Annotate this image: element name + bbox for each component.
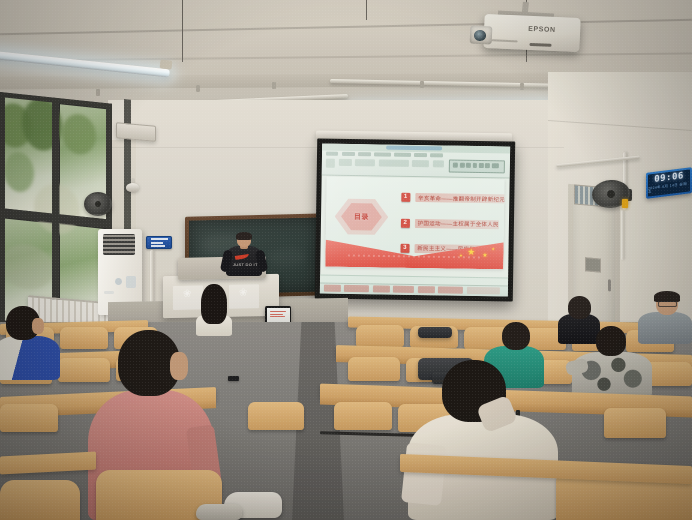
gold-star-icon: ★ [459,254,463,258]
slide-banner: ★ ★ ★ ★ [325,240,504,270]
ribbon-toolbar [324,156,508,175]
seat[interactable] [248,402,304,430]
shoe [196,504,242,520]
seat[interactable] [604,408,666,438]
projector: EPSON [483,14,580,52]
student-blue [0,306,60,380]
light-end-cap [160,59,173,69]
ribbon-tab[interactable] [430,153,443,157]
wall-mounted-fan [84,192,112,216]
projection-screen[interactable]: 目录 1 辛亥革命——推翻帝制开辟新纪元 2 护国运动——主权属于全体人民 3 [320,144,510,297]
student-head [596,326,626,356]
ribbon-tab[interactable] [414,153,427,157]
student-camo [572,326,652,398]
projector-port [529,43,551,47]
wall-speaker [116,122,156,141]
slide-bullet-number: 1 [401,193,410,202]
ribbon-group[interactable] [432,161,443,167]
slide-bullet: 1 辛亥革命——推翻帝制开辟新纪元 [401,192,494,204]
door-vision-panel [585,257,601,272]
conduit-clip [96,89,100,96]
slide-bullet-text: 护国运动——主权属于全体人民 [418,219,499,228]
ribbon-group[interactable] [379,160,409,167]
surveillance-camera [126,183,139,192]
projection-screen-frame: 目录 1 辛亥革命——推翻帝制开辟新纪元 2 护国运动——主权属于全体人民 3 [315,138,515,301]
seat[interactable] [0,480,80,520]
fan-indicator-light [622,199,628,208]
ac-control-panel [126,276,136,288]
gold-star-icon: ★ [491,247,495,251]
seat[interactable] [334,402,392,430]
presentation-slide: 目录 1 辛亥革命——推翻帝制开辟新纪元 2 护国运动——主权属于全体人民 3 [325,177,505,270]
student-ear [170,352,188,380]
slide-bullet-text: 辛亥革命——推翻帝制开辟新纪元 [418,194,505,203]
student-head [568,296,591,319]
conduit-clip [520,83,524,90]
slide-contents-badge: 目录 [334,197,388,237]
student-head [502,322,530,350]
presentation-app-chrome [322,144,510,179]
app-window-title [386,146,442,151]
ribbon-group[interactable] [355,160,375,166]
eyeglasses [658,301,677,307]
slide-bullet-bar: 辛亥革命——推翻帝制开辟新纪元 [415,193,505,203]
shirt-text: JUST DO IT [233,262,258,267]
student-longhair [192,284,236,336]
ribbon-tab[interactable] [374,152,390,156]
os-taskbar [320,282,508,296]
backpack [418,327,452,338]
taskbar-item[interactable] [418,286,435,293]
phone [228,376,239,381]
slide-bullet-bar: 护国运动——主权属于全体人民 [415,219,499,229]
projector-brand-label: EPSON [528,26,556,34]
student-arm [401,442,447,506]
ribbon-tab[interactable] [358,152,371,156]
slide-bullet-number: 2 [401,218,410,227]
ribbon-tab[interactable] [394,153,410,157]
ribbon-group[interactable] [412,160,429,166]
ribbon-gallery[interactable] [449,159,505,173]
conduit-clip [420,81,424,88]
seat[interactable] [348,357,400,381]
taskbar-item[interactable] [324,285,341,292]
ribbon-group[interactable] [338,159,351,165]
taskbar-item[interactable] [372,286,389,293]
ac-logo [115,278,122,285]
classroom-photo: EPSON [0,0,692,520]
door-handle[interactable] [608,279,611,291]
student-cream [408,360,558,520]
ac-vent [104,291,114,294]
conduit-clip [272,82,276,89]
fan-hub [607,190,616,199]
hanging-wire [366,0,367,20]
seat[interactable] [356,325,404,347]
clock-display: 09:06 2024年 6月 14日 星期五 [648,169,690,196]
projector-vent [492,39,518,42]
ribbon-tab[interactable] [342,152,355,156]
presenter: JUST DO IT [222,232,266,280]
hanging-wire [182,0,183,62]
ribbon-tab[interactable] [326,152,339,156]
gold-star-icon: ★ [467,248,475,257]
chalk-smudge [267,248,307,267]
ac-grille [103,234,135,255]
slide-bullet: 2 护国运动——主权属于全体人民 [401,217,494,229]
wall-sign-plaque [146,236,172,249]
wall-pipe [621,210,624,260]
taskbar-item[interactable] [438,287,463,294]
decorative-motif: ❀ [239,288,247,298]
presenter-hair [236,232,252,240]
student-torso [0,336,60,380]
student-hair [201,284,227,324]
taskbar-item[interactable] [393,286,414,293]
slide-badge-label: 目录 [354,212,369,222]
decorative-motif: ❀ [183,290,191,300]
taskbar-tray[interactable] [466,287,500,294]
gold-star-icon: ★ [482,253,487,259]
ribbon-group[interactable] [326,158,335,168]
seat[interactable] [0,404,58,432]
fan-hub [95,201,101,207]
taskbar-item[interactable] [344,285,369,292]
conduit-clip [196,85,200,92]
student-face [32,318,44,334]
